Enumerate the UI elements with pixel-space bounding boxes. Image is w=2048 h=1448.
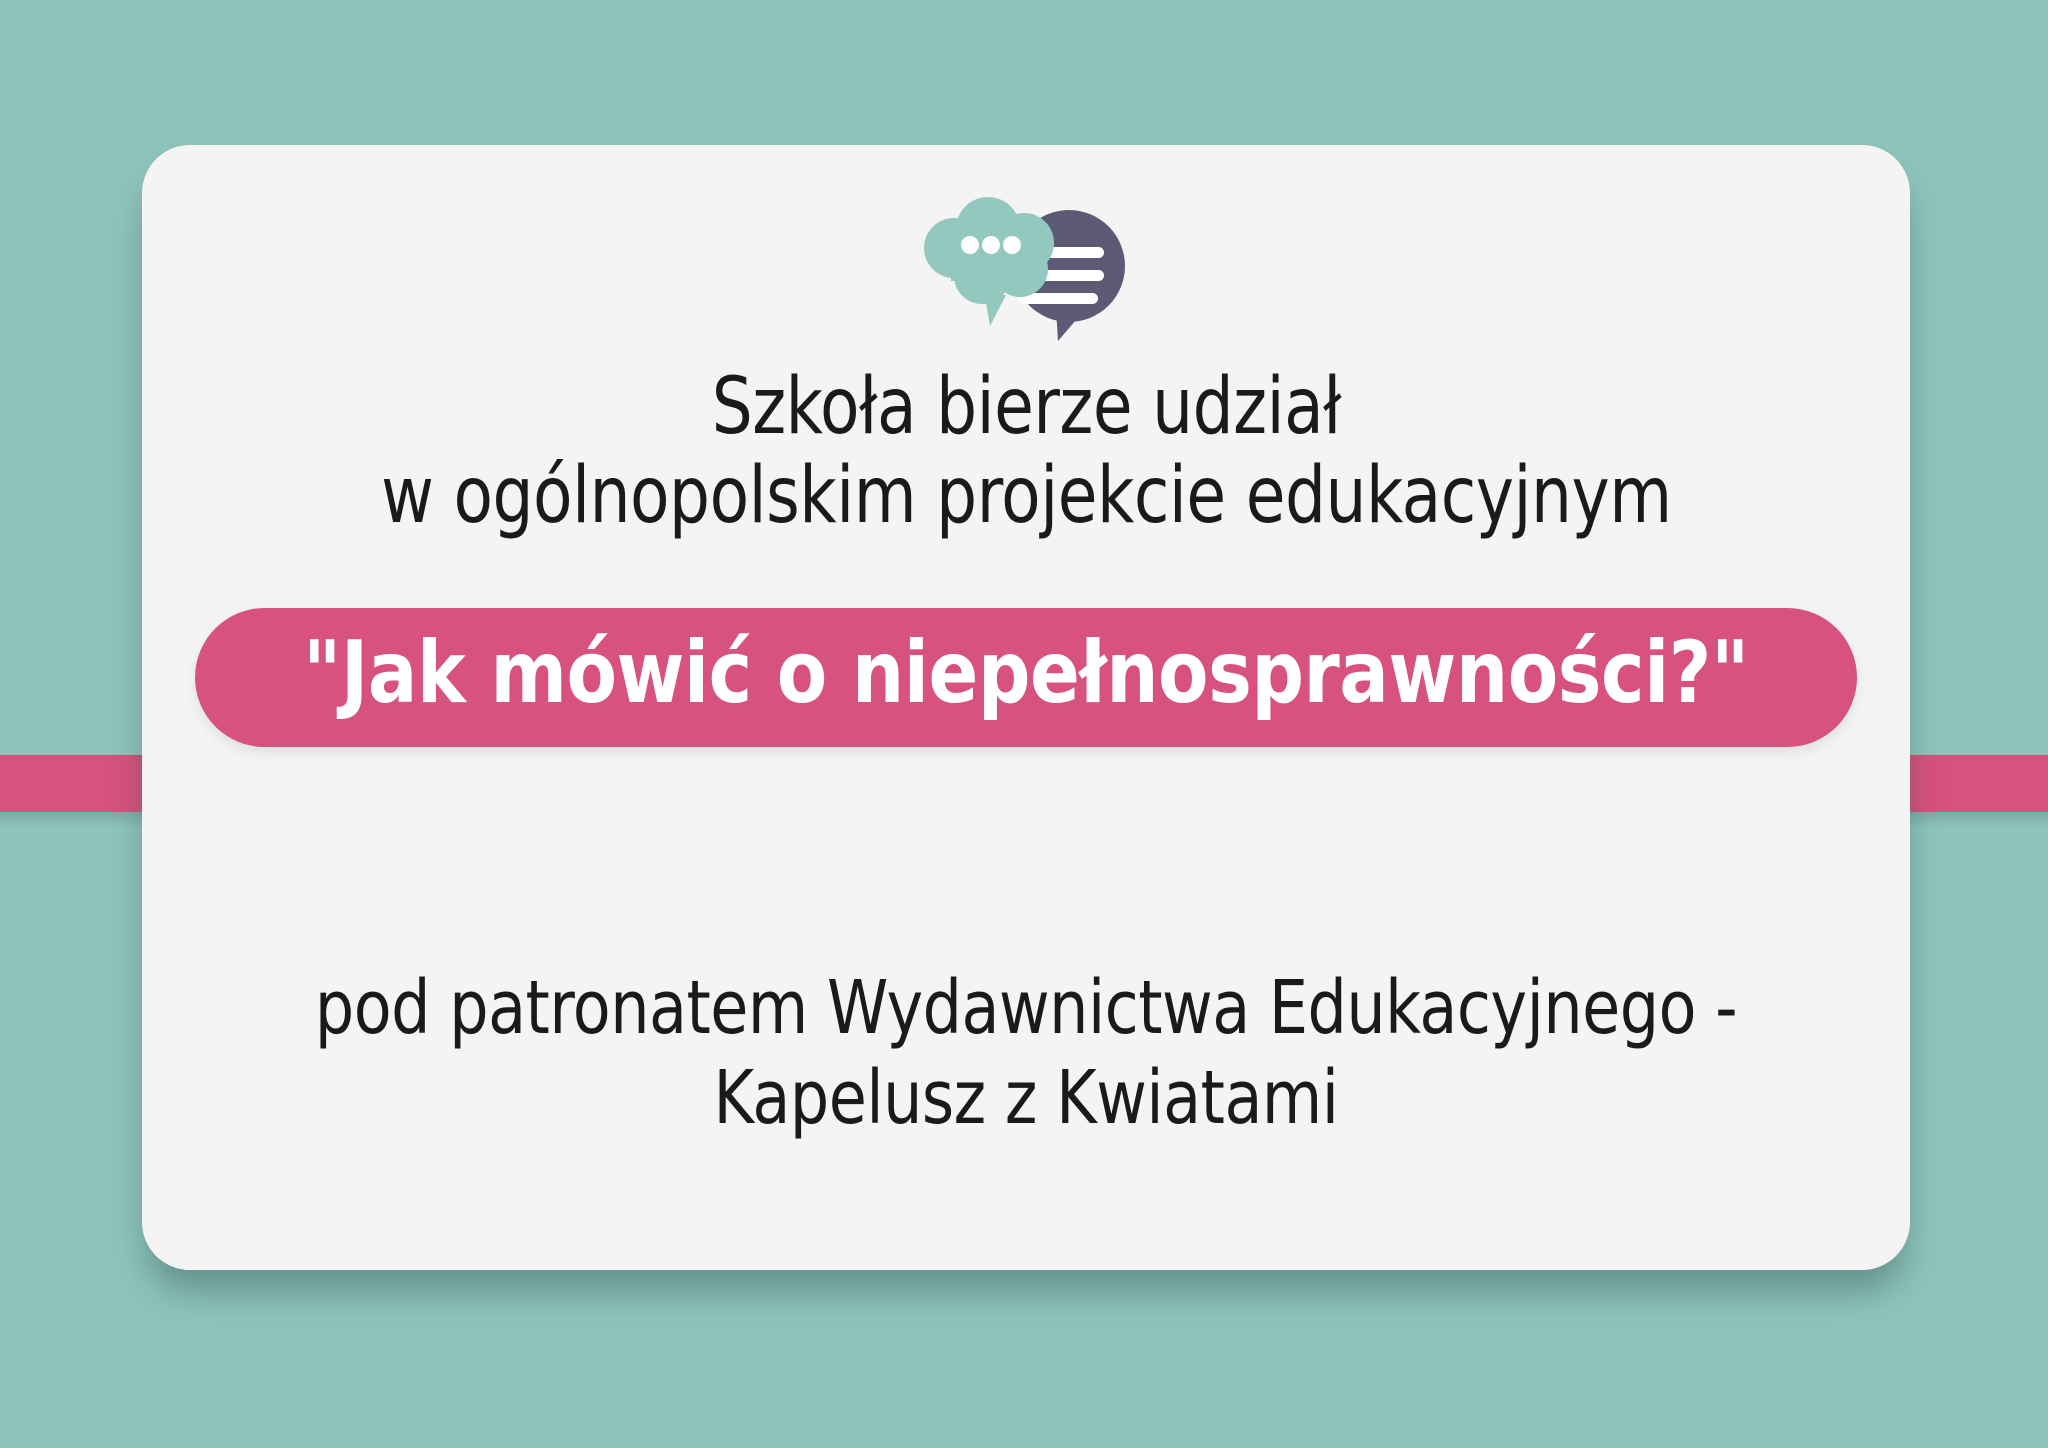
- subline-line-1: pod patronatem Wydawnictwa Edukacyjnego …: [204, 963, 1848, 1053]
- project-title-text: "Jak mówić o niepełnosprawności?": [303, 626, 1749, 721]
- speech-bubbles-icon: [906, 191, 1146, 341]
- poster-root: Szkoła bierze udział w ogólnopolskim pro…: [0, 0, 2048, 1448]
- project-title-banner: "Jak mówić o niepełnosprawności?": [195, 608, 1857, 747]
- headline: Szkoła bierze udział w ogólnopolskim pro…: [381, 363, 1672, 541]
- headline-line-1: Szkoła bierze udział: [711, 362, 1340, 452]
- subline: pod patronatem Wydawnictwa Edukacyjnego …: [142, 963, 1910, 1144]
- banner-row: "Jak mówić o niepełnosprawności?": [142, 608, 1910, 747]
- subline-line-2: Kapelusz z Kwiatami: [204, 1053, 1848, 1143]
- headline-line-2: w ogólnopolskim projekcie edukacyjnym: [381, 452, 1672, 541]
